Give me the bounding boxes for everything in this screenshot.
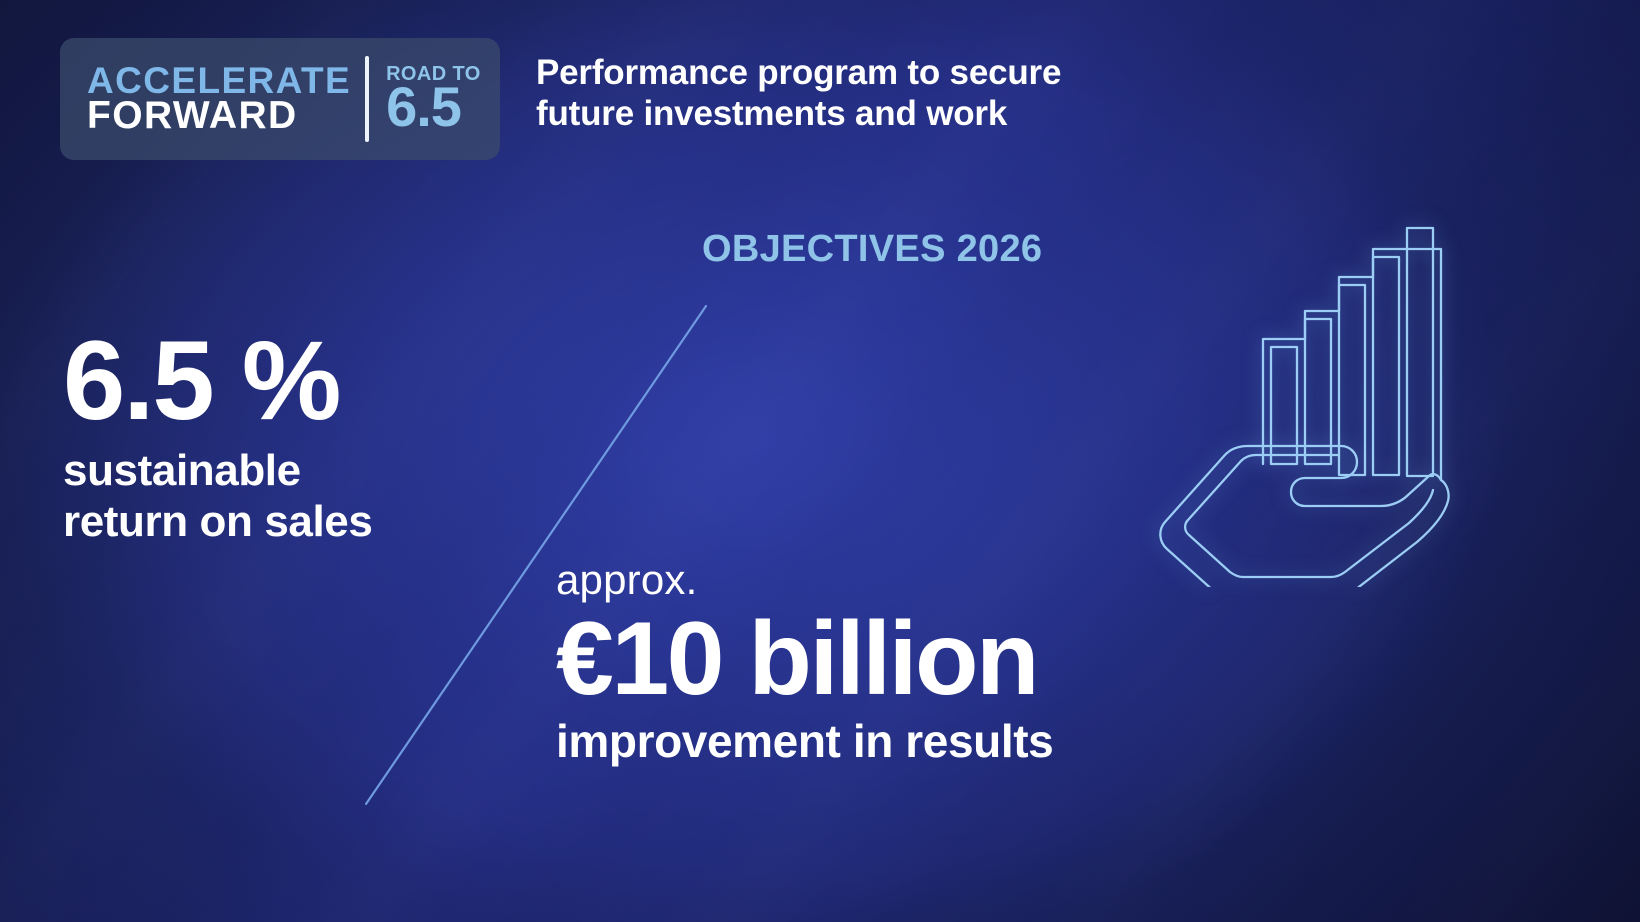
stat-value-percent: 6.5 % [63,325,493,437]
logo-road-to-value: 6.5 [386,81,481,133]
stat-description-results-improvement: improvement in results [556,714,1256,768]
stat-description-return-on-sales: sustainable return on sales [63,445,493,548]
stat-desc-line-2: return on sales [63,496,493,547]
headline-line-1: Performance program to secure [536,52,1266,93]
logo-vertical-divider [365,56,369,142]
stat-block-return-on-sales: 6.5 % sustainable return on sales [63,325,493,548]
stat-block-results-improvement: approx. €10 billion improvement in resul… [556,558,1256,768]
logo-road-to-block: ROAD TO 6.5 [386,65,481,133]
accelerate-forward-logo-badge: ACCELERATE FORWARD ROAD TO 6.5 [60,38,500,160]
logo-accelerate-text: ACCELERATE [87,64,351,98]
headline-line-2: future investments and work [536,93,1266,134]
section-label-objectives: OBJECTIVES 2026 [702,228,1042,271]
slide-canvas: ACCELERATE FORWARD ROAD TO 6.5 Performan… [0,0,1640,922]
page-title: Performance program to secure future inv… [536,52,1266,135]
logo-forward-text: FORWARD [87,98,351,134]
stat-desc-line-1: sustainable [63,445,493,496]
hand-holding-bar-chart-icon [1145,212,1475,587]
logo-wordmark: ACCELERATE FORWARD [60,64,351,135]
stat-value-euro-billion: €10 billion [556,606,1256,712]
